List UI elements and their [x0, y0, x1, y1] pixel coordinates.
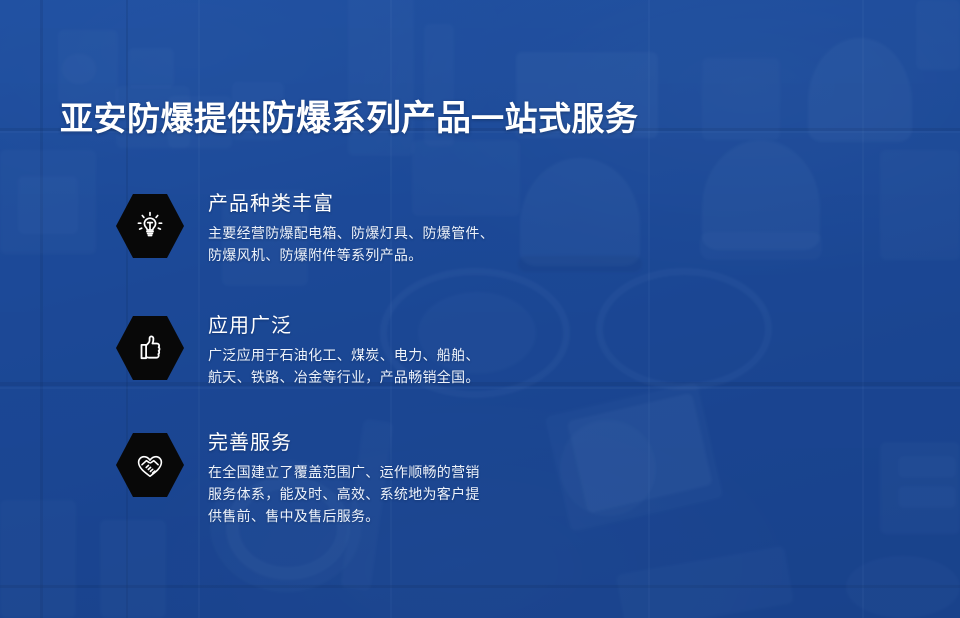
page-title: 亚安防爆提供防爆系列产品一站式服务: [60, 99, 639, 139]
feature-body: 在全国建立了覆盖范围广、运作顺畅的营销 服务体系，能及时、高效、系统地为客户提 …: [208, 461, 480, 527]
thumbs-up-icon: [133, 331, 167, 365]
hexagon-badge: [116, 316, 184, 380]
headline-prefix: 亚安防爆提供: [60, 100, 261, 137]
banner-content: 亚安防爆提供防爆系列产品一站式服务 产品种类丰富 主要经营防爆配电箱、防爆灯具、…: [0, 0, 960, 618]
hexagon-badge: [116, 433, 184, 497]
headline-emphasis: 防爆系列产品: [261, 99, 471, 138]
hexagon-badge: [116, 194, 184, 258]
lightbulb-icon: [133, 209, 167, 243]
handshake-heart-icon: [133, 448, 167, 482]
feature-item-wide-application: 应用广泛 广泛应用于石油化工、煤炭、电力、船舶、 航天、铁路、冶金等行业，产品畅…: [118, 314, 480, 388]
feature-title: 应用广泛: [208, 314, 480, 338]
promo-banner: 亚安防爆提供防爆系列产品一站式服务 产品种类丰富 主要经营防爆配电箱、防爆灯具、…: [0, 0, 960, 618]
feature-text: 应用广泛 广泛应用于石油化工、煤炭、电力、船舶、 航天、铁路、冶金等行业，产品畅…: [208, 314, 480, 388]
feature-item-complete-service: 完善服务 在全国建立了覆盖范围广、运作顺畅的营销 服务体系，能及时、高效、系统地…: [118, 431, 480, 527]
feature-item-product-variety: 产品种类丰富 主要经营防爆配电箱、防爆灯具、防爆管件、 防爆风机、防爆附件等系列…: [118, 192, 494, 266]
feature-title: 产品种类丰富: [208, 192, 494, 216]
feature-body: 主要经营防爆配电箱、防爆灯具、防爆管件、 防爆风机、防爆附件等系列产品。: [208, 222, 494, 266]
feature-body: 广泛应用于石油化工、煤炭、电力、船舶、 航天、铁路、冶金等行业，产品畅销全国。: [208, 344, 480, 388]
feature-text: 产品种类丰富 主要经营防爆配电箱、防爆灯具、防爆管件、 防爆风机、防爆附件等系列…: [208, 192, 494, 266]
feature-title: 完善服务: [208, 431, 480, 455]
headline-suffix: 一站式服务: [471, 100, 639, 137]
feature-text: 完善服务 在全国建立了覆盖范围广、运作顺畅的营销 服务体系，能及时、高效、系统地…: [208, 431, 480, 527]
